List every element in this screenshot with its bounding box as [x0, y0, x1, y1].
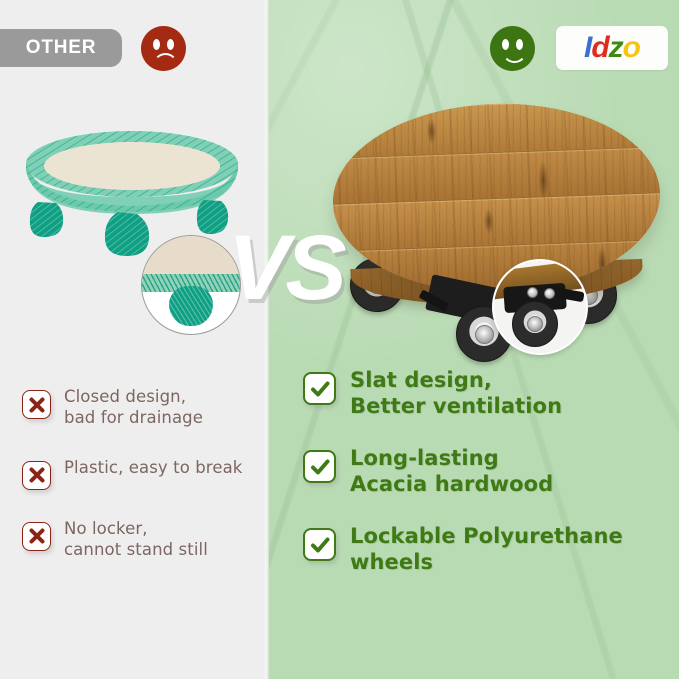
pros-item-line: Acacia hardwood — [350, 472, 553, 498]
happy-face-icon — [490, 26, 535, 71]
cons-list-item: Plastic, easy to break — [22, 457, 270, 490]
cons-list-item: Closed design, bad for drainage — [22, 386, 270, 429]
x-icon — [22, 461, 51, 490]
other-badge-label: OTHER — [26, 37, 97, 59]
cons-item-line: Plastic, easy to break — [64, 457, 242, 478]
sad-face-mouth — [153, 53, 178, 66]
cons-item-text: Closed design, bad for drainage — [64, 386, 203, 429]
x-icon — [22, 390, 51, 419]
check-icon — [303, 528, 336, 561]
comparison-infographic: OTHER — [0, 0, 679, 679]
pros-item-text: Lockable Polyurethane wheels — [350, 524, 623, 575]
check-icon — [303, 450, 336, 483]
pros-item-line: Better ventilation — [350, 394, 562, 420]
inset-bolt — [544, 288, 555, 299]
brand-letter: z — [609, 31, 623, 64]
cons-item-line: cannot stand still — [64, 539, 208, 560]
cons-item-text: No locker, cannot stand still — [64, 518, 208, 561]
happy-face-right-eye — [516, 39, 523, 50]
brand-letter: o — [623, 31, 640, 64]
brand-logo-text: Idzo — [584, 33, 640, 63]
pros-item-line: Lockable Polyurethane — [350, 524, 623, 550]
other-badge: OTHER — [0, 29, 122, 67]
pros-item-line: Slat design, — [350, 368, 562, 394]
cons-item-line: bad for drainage — [64, 407, 203, 428]
check-icon — [303, 372, 336, 405]
locking-caster-detail-inset — [492, 259, 588, 355]
pros-item-text: Slat design, Better ventilation — [350, 368, 562, 419]
cons-item-line: No locker, — [64, 518, 208, 539]
cons-item-text: Plastic, easy to break — [64, 457, 242, 478]
pros-list: Slat design, Better ventilation Long-las… — [303, 368, 665, 603]
inset-bolt — [527, 287, 538, 298]
inset-hub — [527, 316, 543, 332]
pros-list-item: Slat design, Better ventilation — [303, 368, 665, 419]
pros-item-line: Long-lasting — [350, 446, 553, 472]
inset-basin-surface — [141, 236, 241, 276]
caddy-top-slats — [330, 98, 663, 297]
pros-list-item: Long-lasting Acacia hardwood — [303, 446, 665, 497]
pros-item-text: Long-lasting Acacia hardwood — [350, 446, 553, 497]
cons-list: Closed design, bad for drainage Plastic,… — [22, 386, 270, 589]
sad-face-right-eye — [167, 39, 174, 50]
left-panel-other: OTHER — [0, 0, 264, 679]
closed-base-detail-inset — [141, 235, 241, 335]
sad-face-icon — [141, 26, 186, 71]
happy-face-mouth — [502, 50, 527, 63]
pros-list-item: Lockable Polyurethane wheels — [303, 524, 665, 575]
inset-foot — [169, 286, 213, 326]
pros-item-line: wheels — [350, 550, 623, 576]
brand-logo: Idzo — [556, 26, 668, 70]
cons-item-line: Closed design, — [64, 386, 203, 407]
sad-face-left-eye — [153, 39, 160, 50]
happy-face-left-eye — [502, 39, 509, 50]
cons-list-item: No locker, cannot stand still — [22, 518, 270, 561]
x-icon — [22, 522, 51, 551]
caster-hub — [475, 325, 494, 344]
vs-label: VS — [228, 222, 343, 314]
brand-letter: d — [591, 31, 608, 64]
